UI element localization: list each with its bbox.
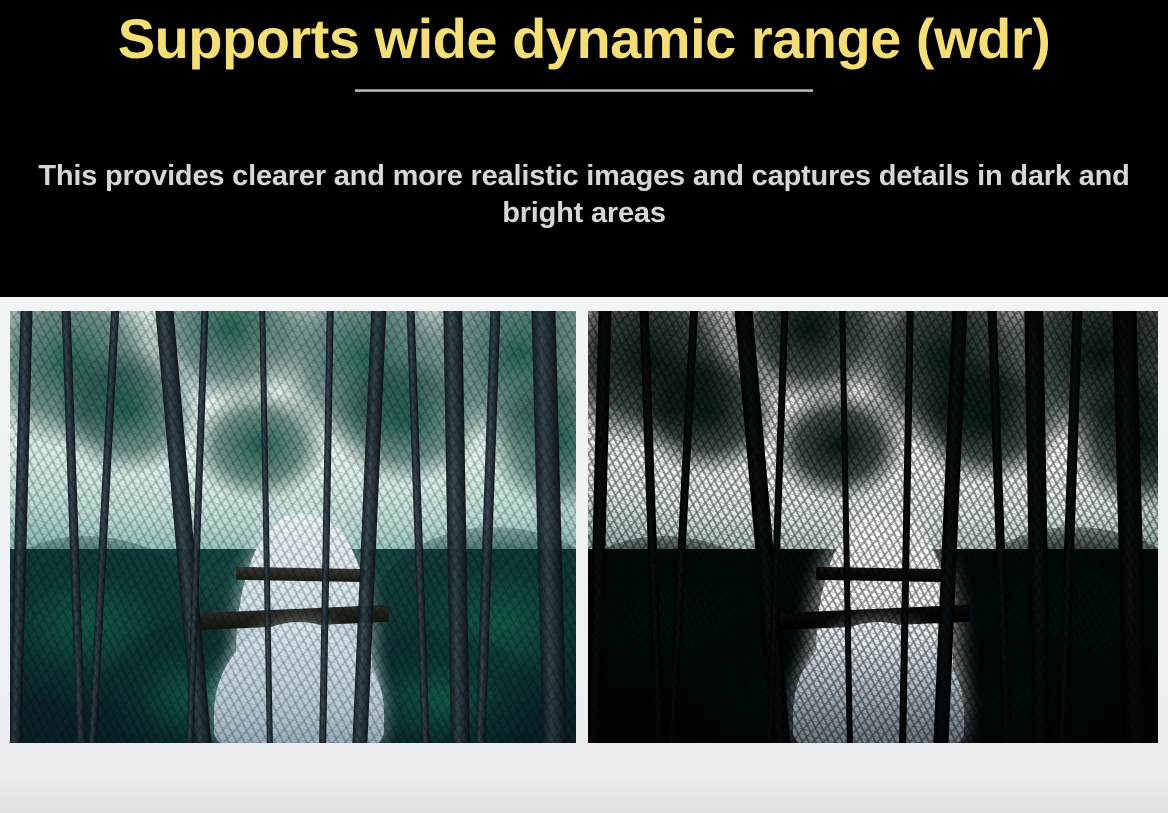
comparison-stage: WDR Other cameras — [0, 297, 1168, 813]
panel-wdr — [10, 311, 576, 743]
panel-other-cameras — [588, 311, 1158, 743]
header-band: Supports wide dynamic range (wdr) This p… — [0, 0, 1168, 297]
photo-wdr — [10, 311, 576, 743]
page-subtitle: This provides clearer and more realistic… — [14, 158, 1154, 232]
wdr-comparison-slide: Supports wide dynamic range (wdr) This p… — [0, 0, 1168, 813]
page-title: Supports wide dynamic range (wdr) — [0, 6, 1168, 72]
vignette — [588, 311, 1158, 743]
vignette — [10, 311, 576, 743]
photo-other-cameras — [588, 311, 1158, 743]
title-divider — [355, 89, 813, 92]
